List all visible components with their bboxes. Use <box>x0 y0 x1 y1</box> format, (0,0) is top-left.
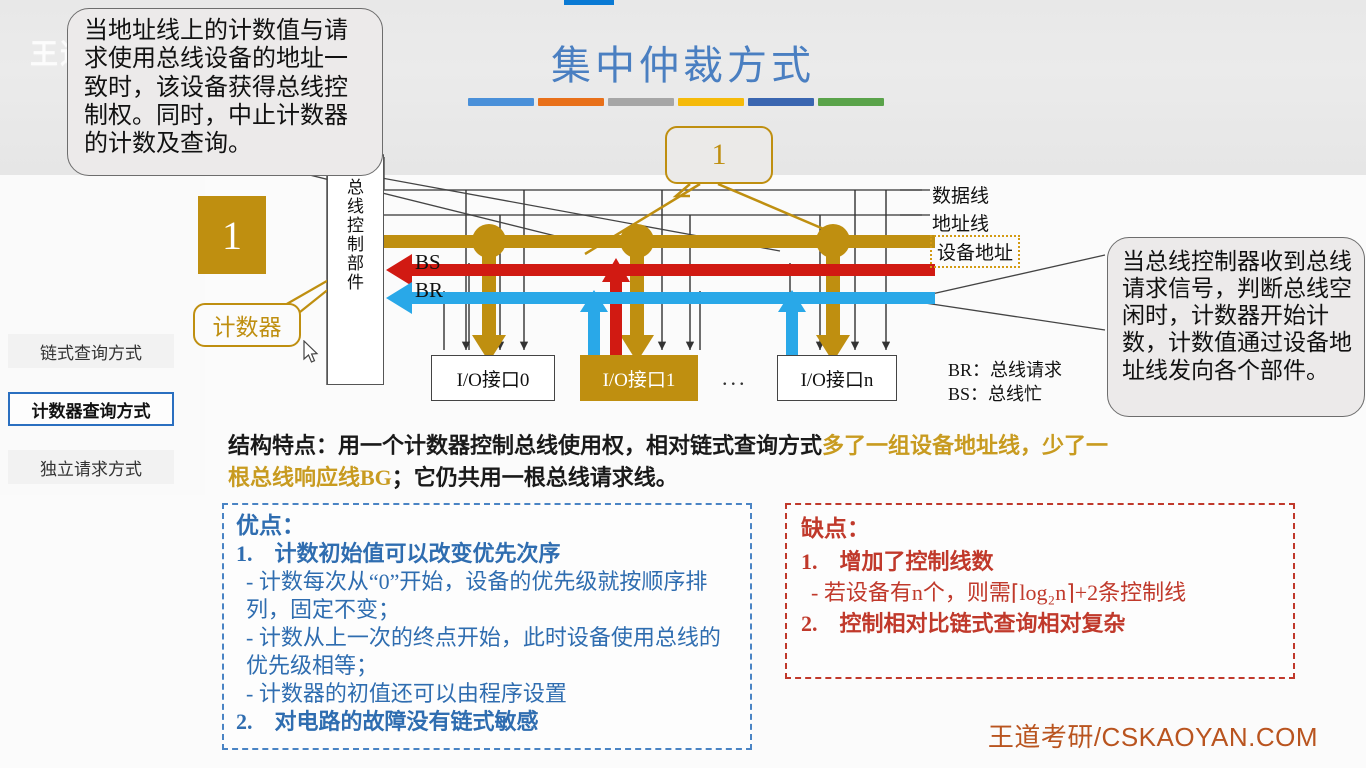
br-signal-label: BR <box>415 278 443 303</box>
counter-callout-label: 计数器 <box>213 308 282 342</box>
mouse-cursor-icon <box>303 340 321 366</box>
io-port-n[interactable]: I/O接口n <box>777 355 897 401</box>
accent-bar-3 <box>608 98 674 106</box>
sidebar-item-chain-query[interactable]: 链式查询方式 <box>8 334 174 368</box>
top-progress-bar <box>564 0 614 5</box>
pros-subitem-2: - 计数从上一次的终点开始，此时设备使用总线的优先级相等； <box>236 624 740 680</box>
structure-description: 结构特点：用一个计数器控制总线使用权，相对链式查询方式多了一组设备地址线，少了一… <box>228 430 1128 494</box>
structure-text-2: ；它仍共用一根总线请求线。 <box>392 465 678 490</box>
accent-bar-4 <box>678 98 744 106</box>
address-bus-label: 地址线 <box>932 209 989 236</box>
pros-subitem-3: - 计数器的初值还可以由程序设置 <box>236 680 740 708</box>
cons-box: 缺点： 1. 增加了控制线数 - 若设备有n个，则需⌈log₂n⌉+2条控制线 … <box>785 503 1295 679</box>
structure-label: 结构特点： <box>228 433 338 458</box>
pros-item-1: 1. 计数初始值可以改变优先次序 <box>236 540 740 568</box>
sidebar-item-label: 链式查询方式 <box>40 339 142 364</box>
callout-right: 当总线控制器收到总线请求信号，判断总线空闲时，计数器开始计数，计数值通过设备地址… <box>1107 237 1365 417</box>
device-address-bus-label: 设备地址 <box>930 235 1020 268</box>
step-badge-callout: 1 <box>665 126 773 184</box>
legend-bs: BS：总线忙 <box>948 380 1042 406</box>
callout-right-text: 当总线控制器收到总线请求信号，判断总线空闲时，计数器开始计数，计数值通过设备地址… <box>1122 249 1352 383</box>
bus-control-unit-box: 总线控制部件 <box>327 155 384 385</box>
cons-item-1: 1. 增加了控制线数 <box>801 546 1283 577</box>
sidebar-item-label: 独立请求方式 <box>40 455 142 480</box>
watermark-bottomright: 王道考研/CSKAOYAN.COM <box>988 717 1318 754</box>
cons-subitem-1: - 若设备有n个，则需⌈log₂n⌉+2条控制线 <box>801 577 1283 608</box>
pros-subitem-1: - 计数每次从“0”开始，设备的优先级就按顺序排列，固定不变； <box>236 568 740 624</box>
pros-header: 优点： <box>236 511 740 540</box>
io-port-label: I/O接口0 <box>457 365 530 392</box>
sidebar-item-label: 计数器查询方式 <box>32 397 151 422</box>
accent-bar-6 <box>818 98 884 106</box>
pros-box: 优点： 1. 计数初始值可以改变优先次序 - 计数每次从“0”开始，设备的优先级… <box>222 503 752 750</box>
cons-header: 缺点： <box>801 513 1283 546</box>
accent-bar-5 <box>748 98 814 106</box>
step-badge-label: 1 <box>712 138 727 172</box>
title-accent-bars <box>468 98 884 106</box>
counter-callout: 计数器 <box>193 303 301 347</box>
legend-br: BR：总线请求 <box>948 356 1062 382</box>
bus-control-unit-label: 总线控制部件 <box>346 178 366 292</box>
sidebar-item-counter-query[interactable]: 计数器查询方式 <box>8 392 174 426</box>
step-number-box: 1 <box>198 196 266 274</box>
callout-left-text: 当地址线上的计数值与请求使用总线设备的地址一致时，该设备获得总线控制权。同时，中… <box>84 18 348 157</box>
io-port-label: I/O接口n <box>801 365 874 392</box>
cons-item-2: 2. 控制相对比链式查询相对复杂 <box>801 608 1283 639</box>
callout-left: 当地址线上的计数值与请求使用总线设备的地址一致时，该设备获得总线控制权。同时，中… <box>67 8 383 176</box>
sidebar-item-independent-request[interactable]: 独立请求方式 <box>8 450 174 484</box>
bs-signal-label: BS <box>415 250 441 275</box>
io-port-0[interactable]: I/O接口0 <box>431 355 555 401</box>
pros-item-2: 2. 对电路的故障没有链式敏感 <box>236 708 740 736</box>
step-number-label: 1 <box>222 212 242 259</box>
io-port-label: I/O接口1 <box>603 365 676 392</box>
data-bus-label: 数据线 <box>932 181 989 208</box>
accent-bar-2 <box>538 98 604 106</box>
slide-canvas: 王道论坛 集中仲裁方式 链式查询方式 计数器查询方式 独立请求方式 <box>0 0 1366 768</box>
io-port-1[interactable]: I/O接口1 <box>580 355 698 401</box>
structure-text-1: 用一个计数器控制总线使用权，相对链式查询方式 <box>338 433 822 458</box>
accent-bar-1 <box>468 98 534 106</box>
io-port-ellipsis: ... <box>722 365 748 391</box>
